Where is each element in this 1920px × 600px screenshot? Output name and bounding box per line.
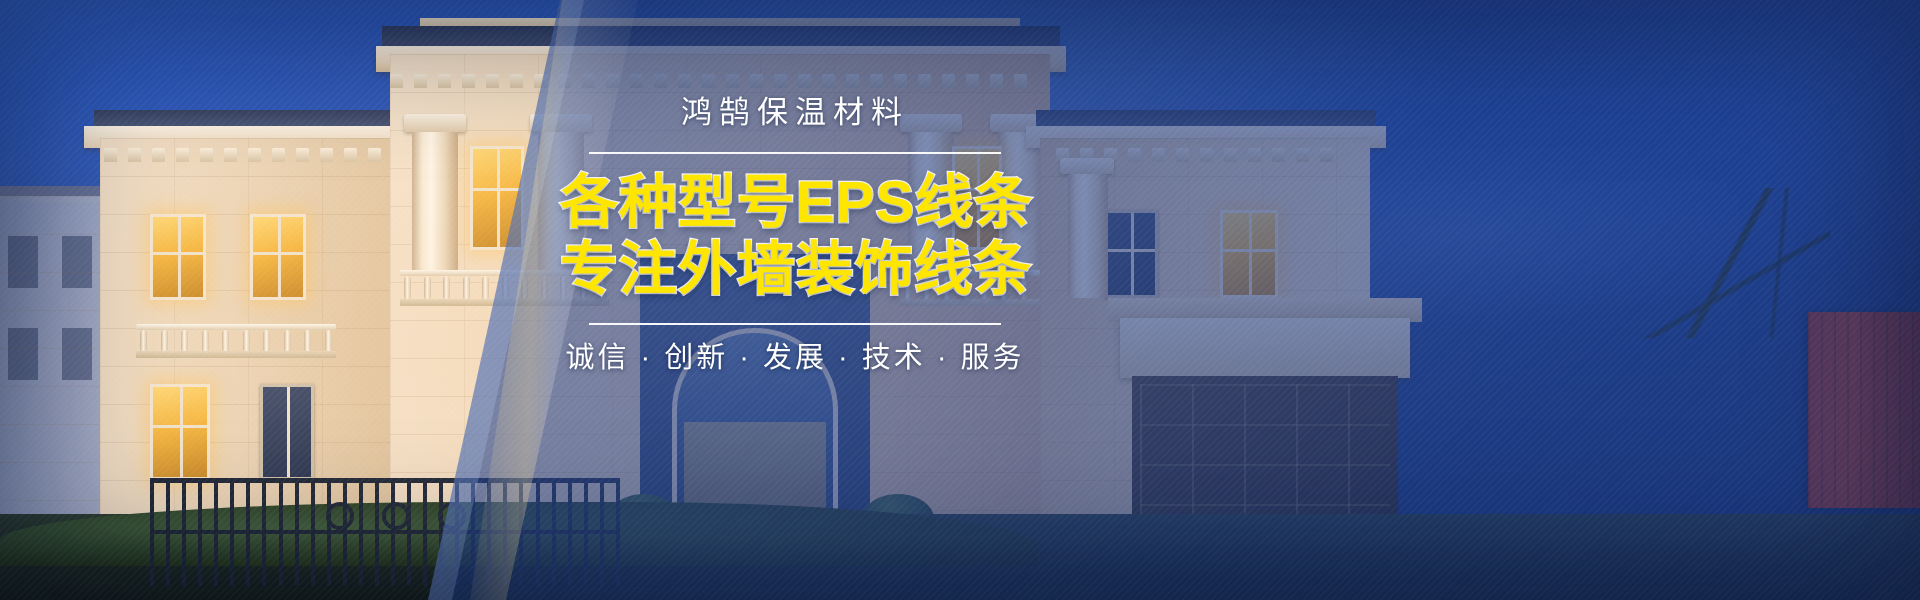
column (412, 132, 458, 272)
brand-eyebrow: 鸿鹄保温材料 (560, 96, 1030, 130)
headline-line-2: 专注外墙装饰线条 (560, 237, 1030, 304)
banner-root: 鸿鹄保温材料 各种型号EPS线条 专注外墙装饰线条 诚信 · 创新 · 发展 ·… (0, 0, 1920, 600)
divider-top (589, 152, 1001, 154)
banner-text-block: 鸿鹄保温材料 各种型号EPS线条 专注外墙装饰线条 诚信 · 创新 · 发展 ·… (560, 96, 1030, 376)
tagline: 诚信 · 创新 · 发展 · 技术 · 服务 (560, 341, 1030, 376)
column-capital (404, 114, 466, 132)
window (8, 328, 38, 380)
window (260, 384, 314, 480)
headline-line-1: 各种型号EPS线条 (560, 170, 1030, 237)
dentil-row (104, 148, 381, 162)
fence-ornament (382, 502, 410, 530)
window-lit (150, 214, 206, 300)
fence-ornament (326, 502, 354, 530)
divider-bottom (589, 323, 1001, 325)
headline: 各种型号EPS线条 专注外墙装饰线条 (560, 170, 1030, 303)
balustrade (136, 324, 336, 358)
window (8, 236, 38, 288)
window-lit (250, 214, 306, 300)
window-lit (150, 384, 210, 480)
